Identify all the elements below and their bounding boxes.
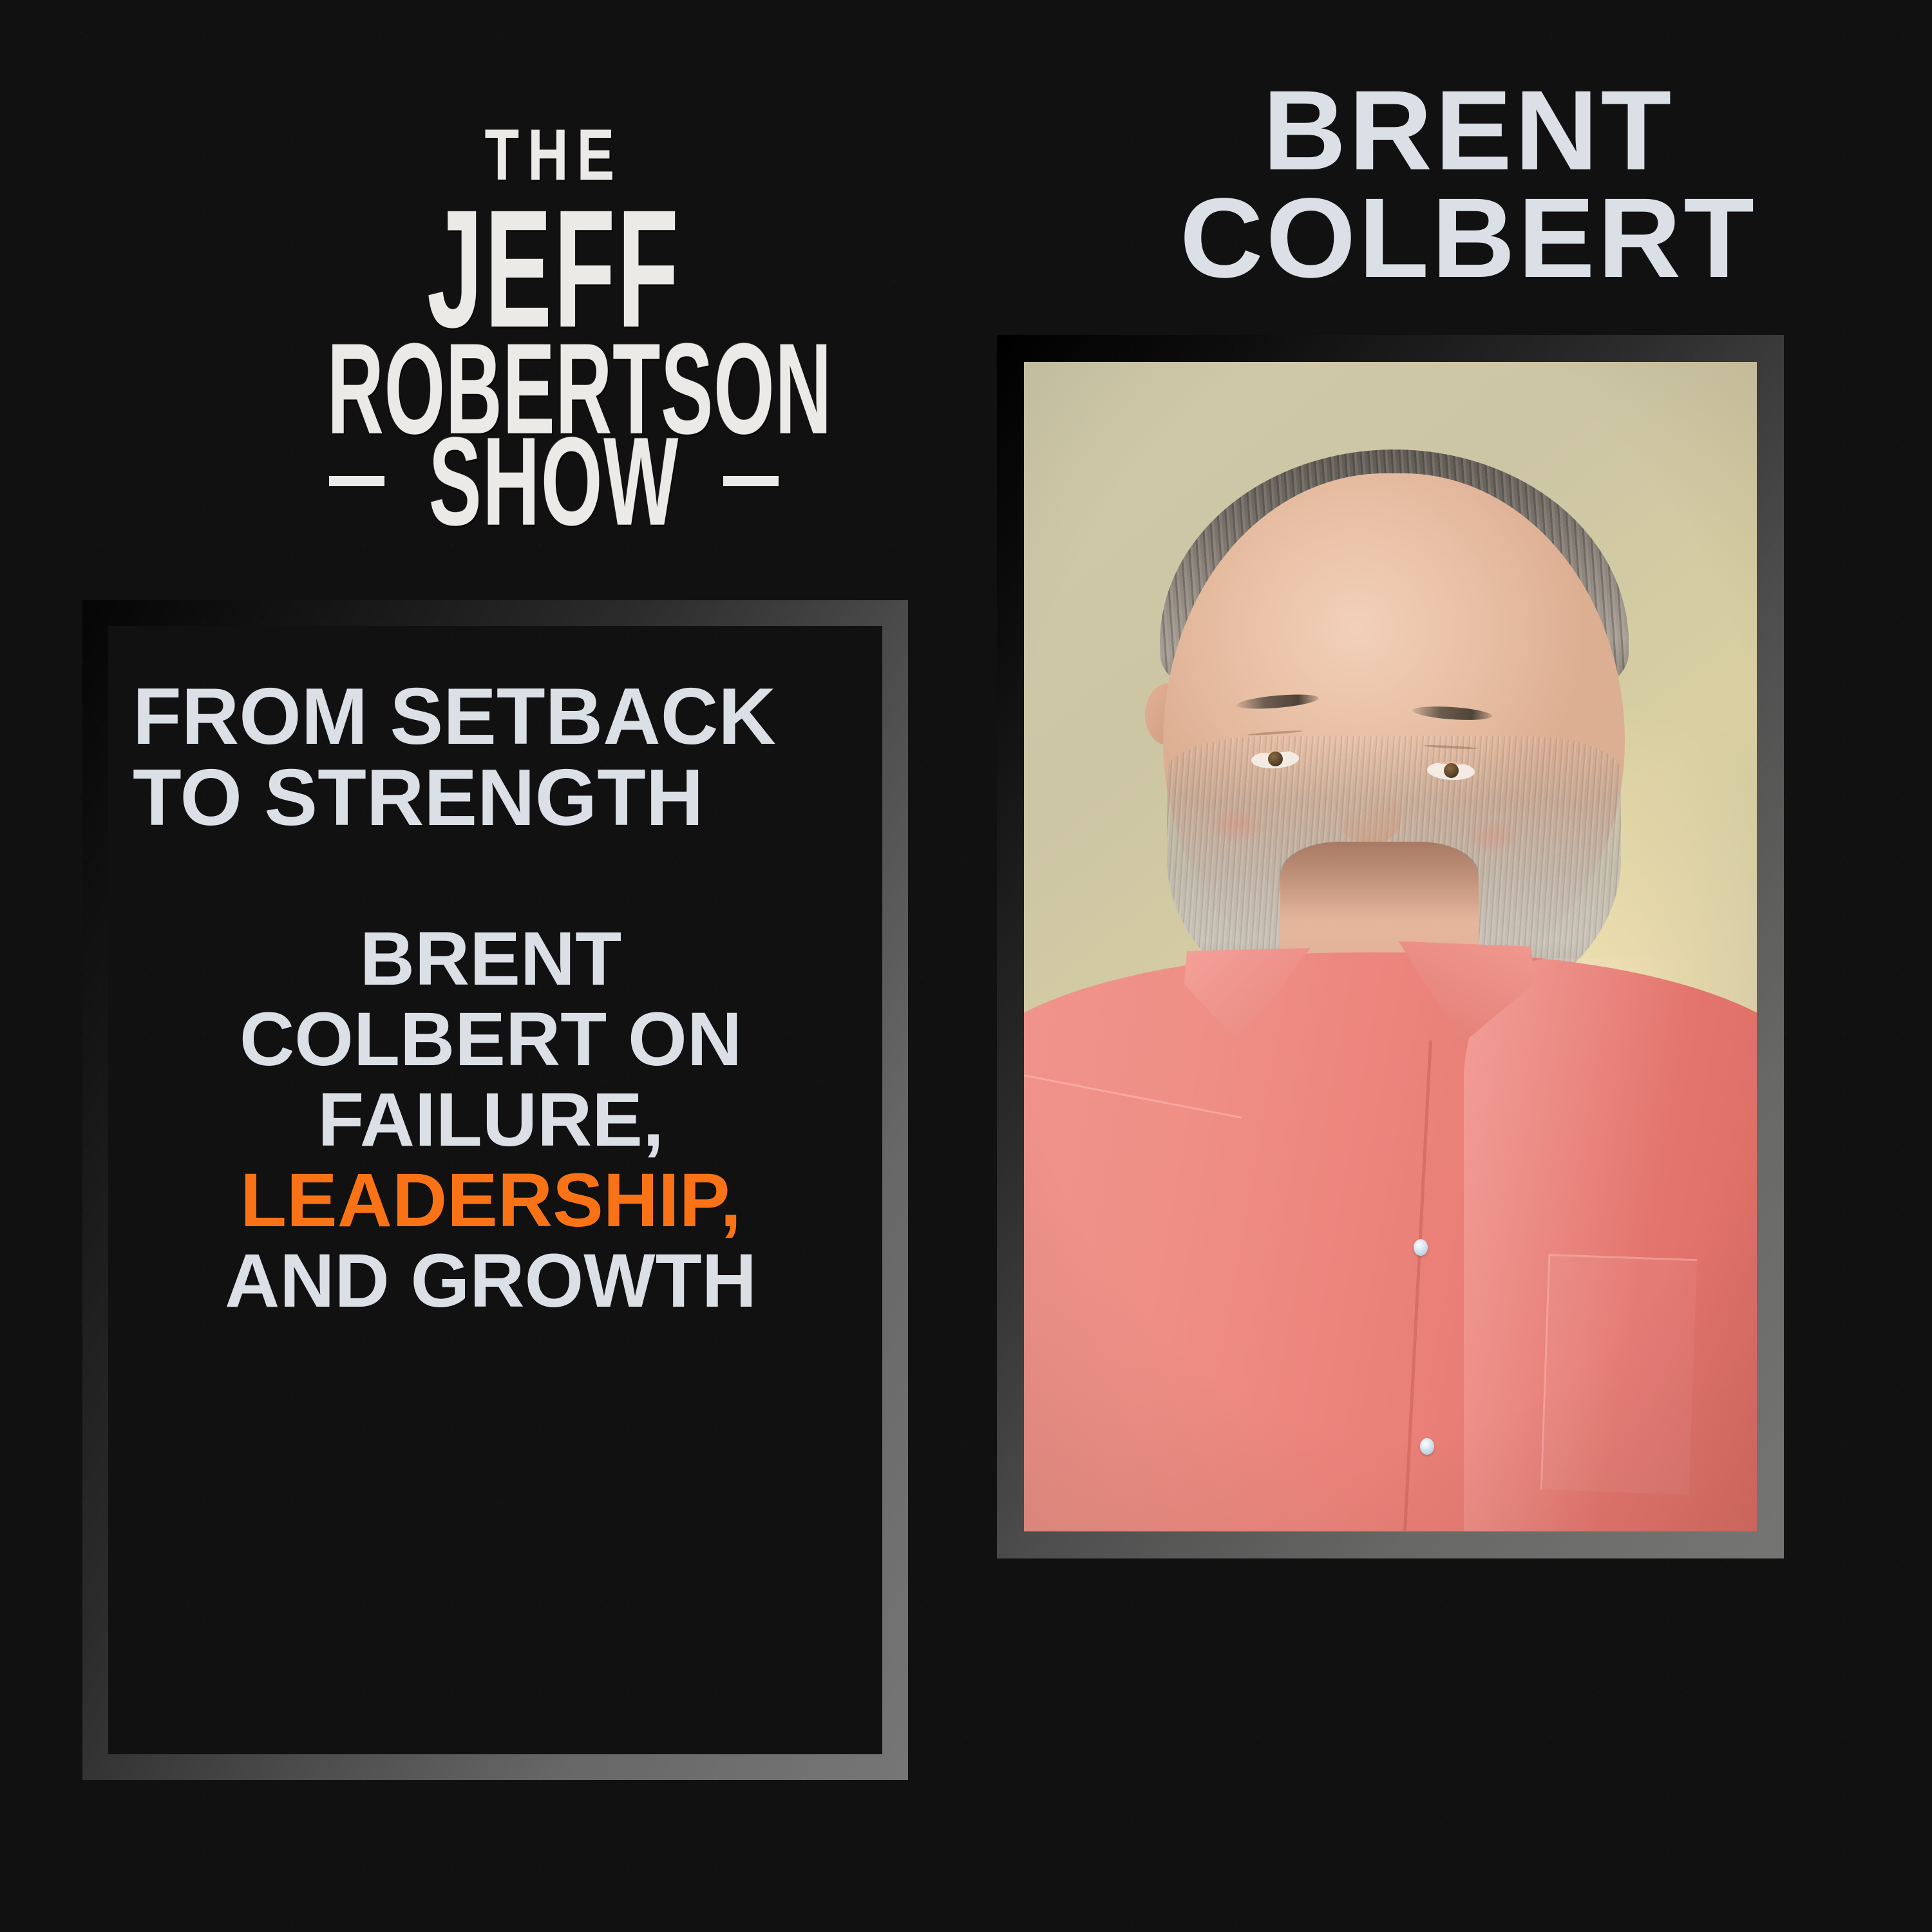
logo-dash-left-icon <box>329 476 384 486</box>
episode-title-panel-inner: FROM SETBACK TO STRENGTH BRENT COLBERT O… <box>108 626 882 1754</box>
episode-title: FROM SETBACK TO STRENGTH <box>133 676 849 839</box>
podcast-episode-poster: THE JEFF ROBERTSON SHOW BRENT COLBERT FR… <box>0 0 1932 1932</box>
guest-last-name: COLBERT <box>1061 185 1876 292</box>
guest-name: BRENT COLBERT <box>1069 77 1868 292</box>
episode-subtitle-accent-leadership: LEADERSHIP, <box>133 1160 849 1241</box>
portrait-shirt-button-2 <box>1420 1438 1434 1455</box>
portrait-shirt-pocket <box>1540 1254 1697 1495</box>
portrait-cheek-right <box>1464 818 1522 855</box>
guest-first-name: BRENT <box>1061 77 1876 185</box>
episode-subtitle: BRENT COLBERT ON FAILURE, LEADERSHIP, AN… <box>133 919 849 1321</box>
episode-title-panel: FROM SETBACK TO STRENGTH BRENT COLBERT O… <box>82 600 908 1780</box>
portrait-iris-right <box>1443 763 1459 779</box>
logo-line-show: SHOW <box>428 424 679 539</box>
logo-dash-right-icon <box>723 476 779 486</box>
episode-subtitle-line-3: FAILURE, <box>133 1080 849 1160</box>
portrait-neck-shadow <box>1280 842 1478 923</box>
episode-subtitle-line-4: AND GROWTH <box>133 1241 849 1321</box>
portrait-nose <box>1339 789 1401 844</box>
portrait-iris-left <box>1267 751 1283 766</box>
episode-title-line-2: TO STRENGTH <box>133 757 849 838</box>
episode-title-line-1: FROM SETBACK <box>133 676 849 757</box>
guest-photo <box>1024 362 1757 1531</box>
episode-subtitle-line-1: BRENT <box>133 919 849 999</box>
show-logo: THE JEFF ROBERTSON SHOW <box>270 122 837 526</box>
portrait-cheek-left <box>1207 806 1265 844</box>
guest-photo-frame <box>997 335 1784 1558</box>
episode-subtitle-line-2: COLBERT ON <box>133 999 849 1080</box>
